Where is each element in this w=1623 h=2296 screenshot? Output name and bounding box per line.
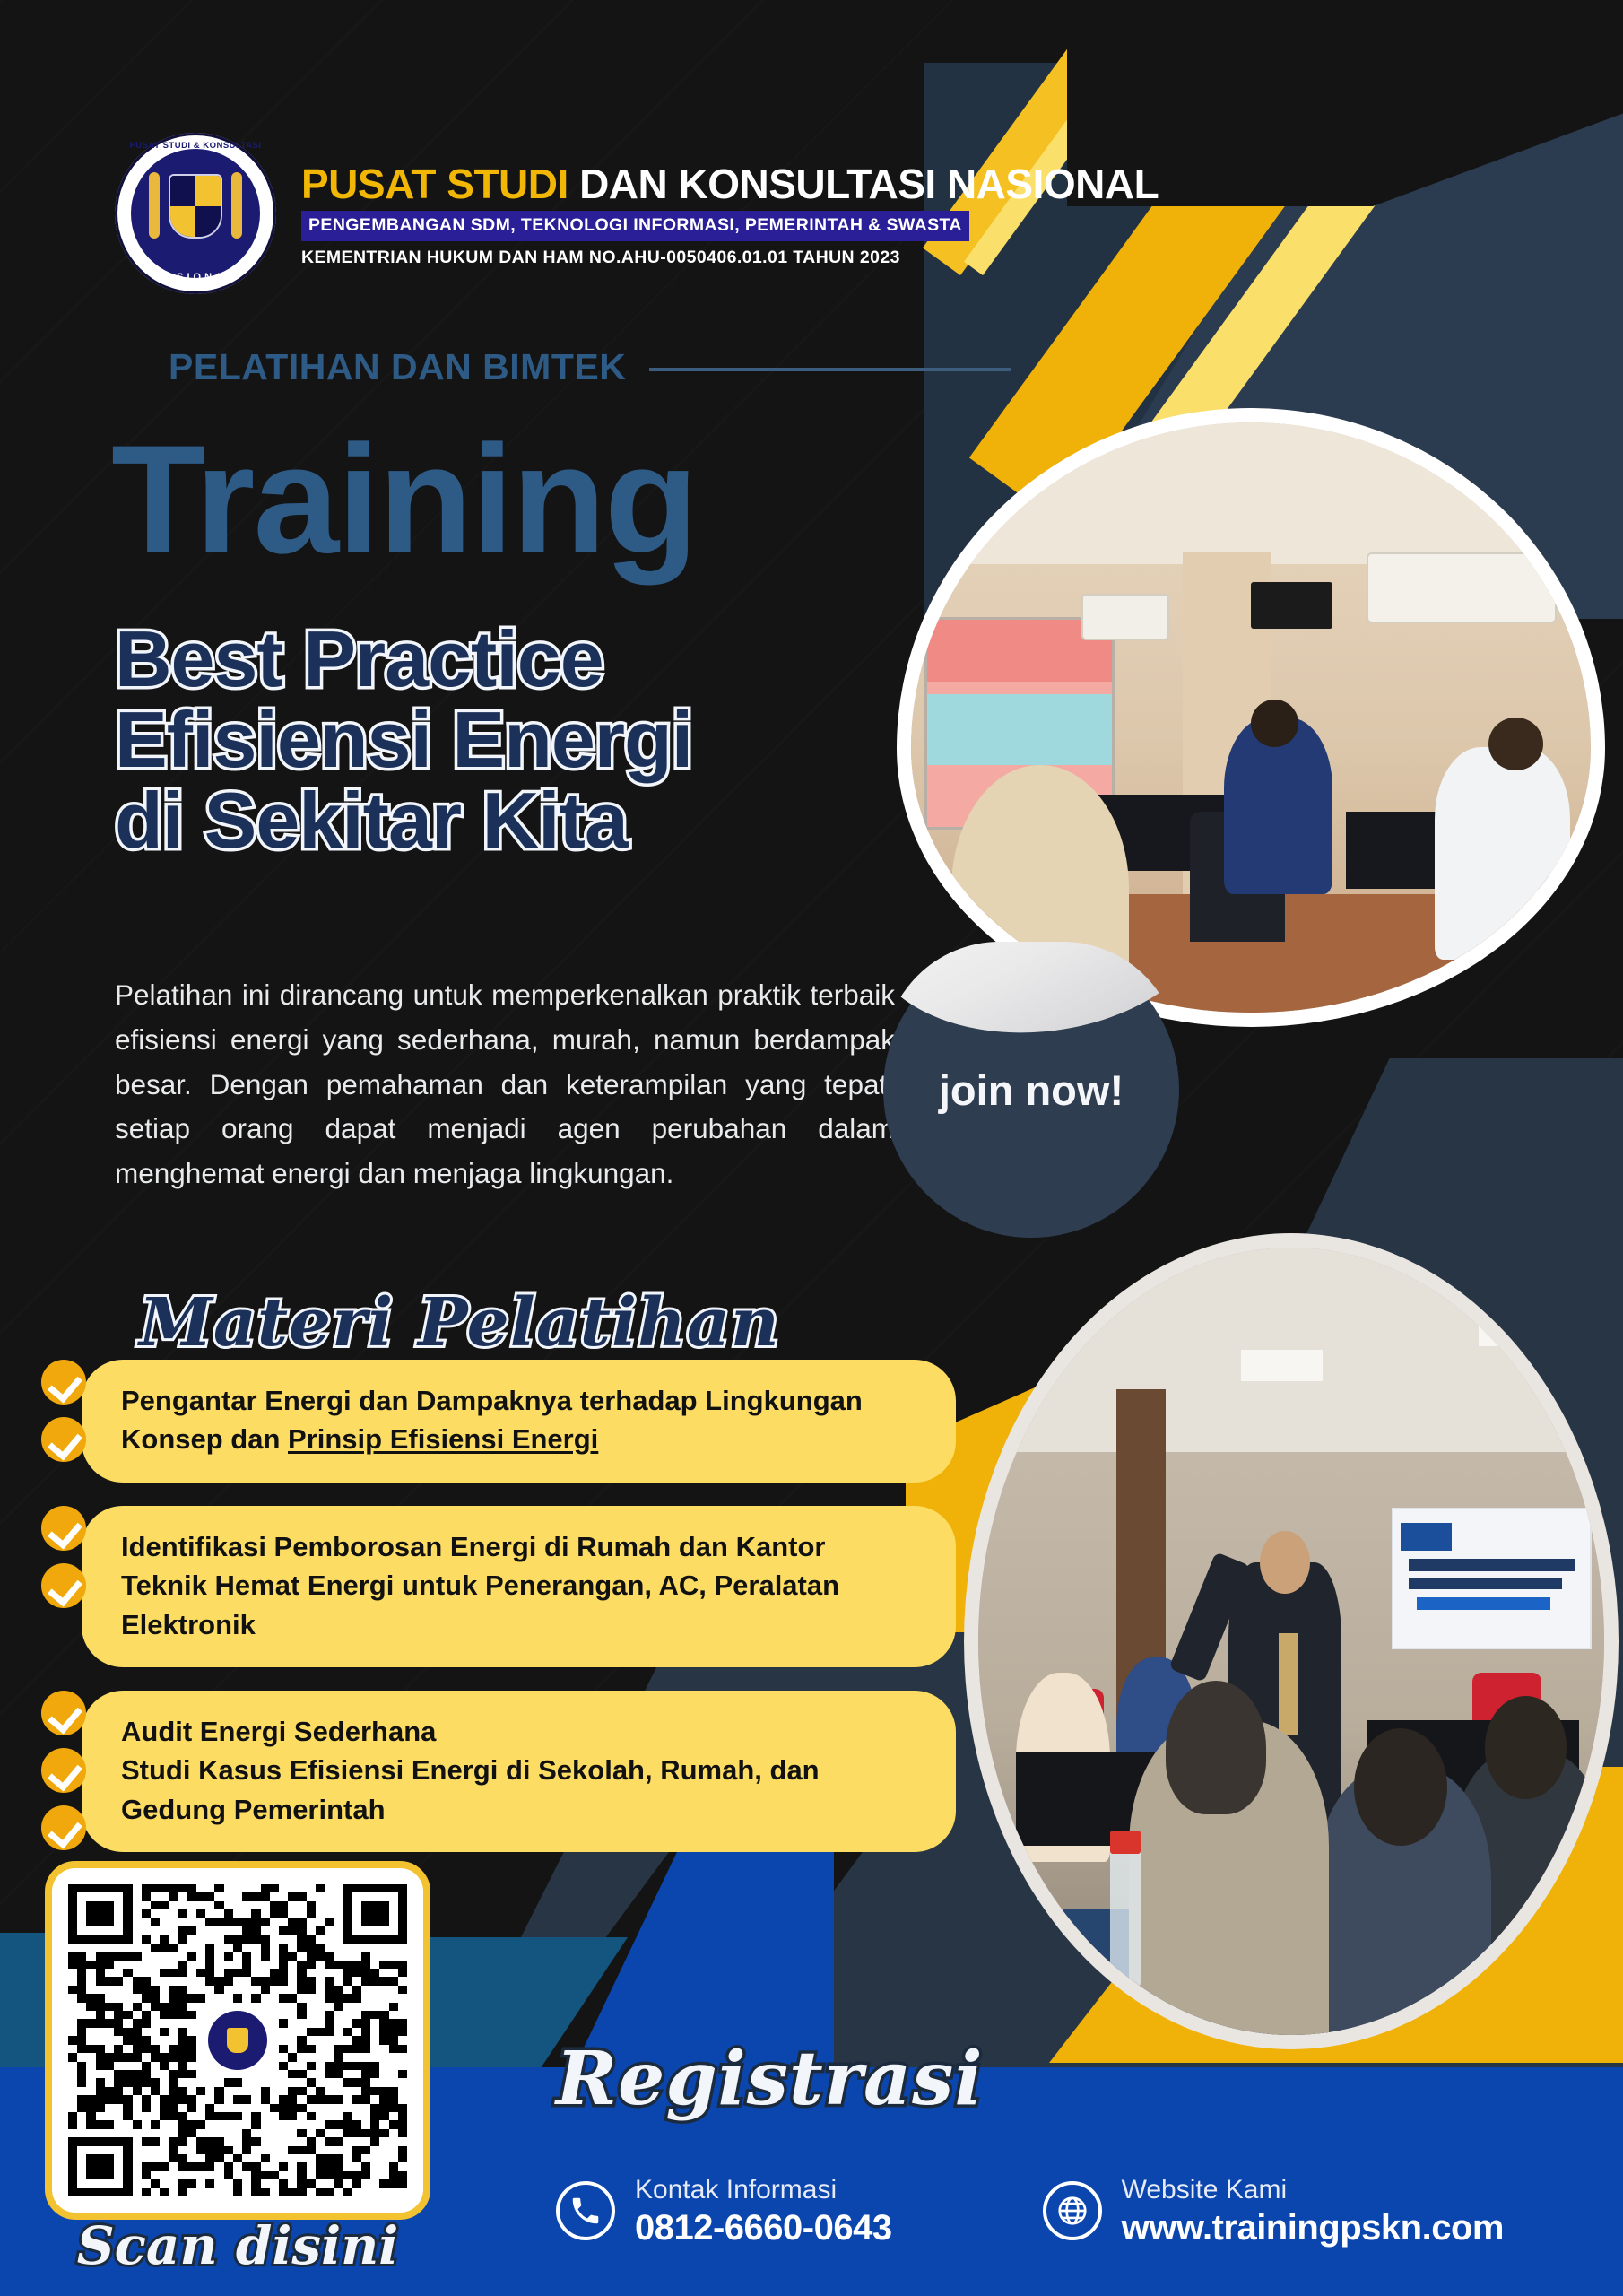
join-now-badge[interactable]: join now! <box>883 942 1179 1238</box>
photo-2-scene <box>978 1248 1604 2035</box>
materi-heading: Materi Pelatihan <box>139 1284 780 1361</box>
check-icon <box>41 1360 86 1405</box>
subtitle-line-1: Best Practice <box>115 619 922 700</box>
air-conditioner-icon <box>1367 552 1557 623</box>
emblem-bottom-text: NASIONAL <box>115 272 276 283</box>
qr-code[interactable] <box>45 1861 430 2220</box>
website-url: www.trainingpskn.com <box>1122 2206 1504 2249</box>
photo-1-scene <box>911 422 1591 1013</box>
phone-icon <box>556 2181 615 2240</box>
scan-here-label: Scan disini <box>36 2215 439 2276</box>
eyebrow-divider <box>649 368 1011 371</box>
projector <box>1251 582 1332 630</box>
check-column <box>41 1360 88 1462</box>
page-title: Training <box>111 427 697 573</box>
check-column <box>41 1691 88 1850</box>
check-icon <box>41 1691 86 1735</box>
materi-group: Pengantar Energi dan Dampaknya terhadap … <box>41 1360 956 1483</box>
eyebrow-label: PELATIHAN DAN BIMTEK <box>169 346 626 388</box>
emblem-wreath-left <box>149 172 160 239</box>
contact-row: Kontak Informasi 0812-6660-0643 Website … <box>556 2173 1504 2250</box>
organization-logo-icon: PUSAT STUDI & KONSULTASI NASIONAL <box>115 133 276 294</box>
phone-label: Kontak Informasi <box>635 2173 892 2207</box>
materi-group: Identifikasi Pemborosan Energi di Rumah … <box>41 1506 956 1667</box>
phone-contact[interactable]: Kontak Informasi 0812-6660-0643 <box>556 2173 892 2250</box>
check-icon <box>41 1748 86 1793</box>
materi-list: Pengantar Energi dan Dampaknya terhadap … <box>41 1360 956 1875</box>
check-icon <box>41 1805 86 1850</box>
event-banner <box>1392 1508 1592 1649</box>
training-photo-1 <box>897 408 1605 1027</box>
qr-center-logo-icon <box>201 2004 274 2077</box>
emblem-wreath-right <box>231 172 242 239</box>
subtitle-line-3: di Sekitar Kita <box>115 780 922 861</box>
check-column <box>41 1506 88 1608</box>
brand-name: PUSAT STUDI DAN KONSULTASI NASIONAL <box>301 162 1159 205</box>
brand-header: PUSAT STUDI & KONSULTASI NASIONAL PUSAT … <box>115 133 1159 294</box>
check-icon <box>41 1417 86 1462</box>
materi-item: Konsep dan Prinsip Efisiensi Energi <box>121 1420 925 1458</box>
subtitle-line-2: Efisiensi Energi <box>115 700 922 780</box>
materi-group: Audit Energi Sederhana Studi Kasus Efisi… <box>41 1691 956 1852</box>
materi-item-emphasis: Prinsip Efisiensi Energi <box>288 1423 598 1455</box>
eyebrow-row: PELATIHAN DAN BIMTEK <box>169 346 1011 388</box>
page-subtitle: Best Practice Efisiensi Energi di Sekita… <box>115 619 922 860</box>
website-contact[interactable]: Website Kami www.trainingpskn.com <box>1043 2173 1504 2250</box>
materi-item: Audit Energi Sederhana <box>121 1712 925 1751</box>
description-paragraph: Pelatihan ini dirancang untuk memperkena… <box>115 973 895 1196</box>
materi-card: Audit Energi Sederhana Studi Kasus Efisi… <box>82 1691 956 1852</box>
brand-name-rest: DAN KONSULTASI NASIONAL <box>579 161 1159 207</box>
check-icon <box>41 1506 86 1551</box>
brand-tagline: PENGEMBANGAN SDM, TEKNOLOGI INFORMASI, P… <box>301 211 969 241</box>
registration-heading: Registrasi <box>556 2036 984 2122</box>
materi-item: Teknik Hemat Energi untuk Penerangan, AC… <box>121 1566 925 1644</box>
phone-text: Kontak Informasi 0812-6660-0643 <box>635 2173 892 2250</box>
brand-name-highlight: PUSAT STUDI <box>301 161 568 207</box>
materi-card: Identifikasi Pemborosan Energi di Rumah … <box>82 1506 956 1667</box>
phone-number: 0812-6660-0643 <box>635 2206 892 2249</box>
brand-text-block: PUSAT STUDI DAN KONSULTASI NASIONAL PENG… <box>301 159 1159 268</box>
training-photo-2 <box>964 1233 1619 2049</box>
air-conditioner-icon <box>1081 594 1170 641</box>
materi-item: Identifikasi Pemborosan Energi di Rumah … <box>121 1527 925 1566</box>
globe-icon <box>1043 2181 1102 2240</box>
website-text: Website Kami www.trainingpskn.com <box>1122 2173 1504 2250</box>
check-icon <box>41 1563 86 1608</box>
materi-item: Studi Kasus Efisiensi Energi di Sekolah,… <box>121 1751 925 1829</box>
brand-legal-registration: KEMENTRIAN HUKUM DAN HAM NO.AHU-0050406.… <box>301 248 1159 268</box>
emblem-shield-icon <box>169 174 222 239</box>
materi-card: Pengantar Energi dan Dampaknya terhadap … <box>82 1360 956 1483</box>
website-label: Website Kami <box>1122 2173 1504 2207</box>
poster-root: PUSAT STUDI & KONSULTASI NASIONAL PUSAT … <box>0 0 1623 2296</box>
materi-item: Pengantar Energi dan Dampaknya terhadap … <box>121 1381 925 1420</box>
